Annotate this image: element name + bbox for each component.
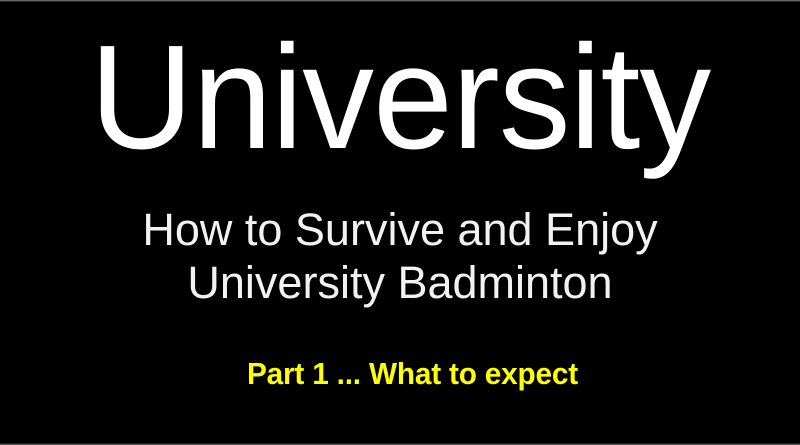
slide-subtitle-line-2: University Badminton	[0, 256, 800, 309]
slide-part-label: Part 1 ... What to expect	[16, 355, 784, 393]
slide-subtitle: How to Survive and Enjoy University Badm…	[0, 203, 800, 309]
slide-title: University	[12, 14, 788, 182]
slide-content-area: University How to Survive and Enjoy Univ…	[0, 0, 800, 445]
presentation-slide: University How to Survive and Enjoy Univ…	[0, 0, 800, 445]
slide-subtitle-line-1: How to Survive and Enjoy	[0, 203, 800, 256]
